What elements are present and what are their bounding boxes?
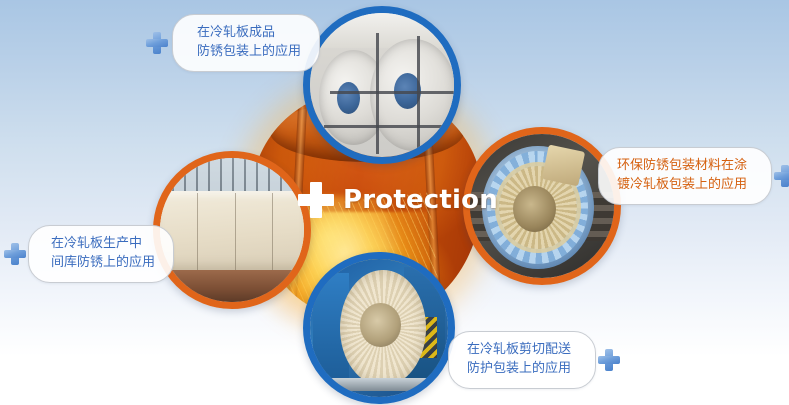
coil-packing-machine-photo [310,259,448,397]
callout-photo-top[interactable] [303,6,461,164]
callout-label-left-line1: 在冷轧板生产中 [51,235,155,254]
tarp-seam [197,193,198,271]
strapping-band [330,91,454,94]
callout-label-top[interactable]: 在冷轧板成品 防锈包装上的应用 [146,14,320,72]
plus-cross-icon [146,32,168,54]
callout-label-left-line2: 间库防锈上的应用 [51,254,155,273]
callout-label-right-line2: 镀冷轧板包装上的应用 [617,176,747,195]
callout-label-bottom-line1: 在冷轧板剪切配送 [467,341,571,360]
plus-cross-icon [4,243,26,265]
tarpaulin-cover [154,191,310,272]
callout-label-top-line1: 在冷轧板成品 [197,24,301,43]
plus-cross-icon [298,182,334,218]
callout-label-top-line2: 防锈包装上的应用 [197,43,301,62]
coil-eye [360,303,401,347]
plus-cross-icon [598,349,620,371]
factory-floor [160,270,304,302]
center-lockup: Protection [298,182,498,218]
warehouse-wall [310,13,454,48]
callout-label-right-line1: 环保防锈包装材料在涂 [617,157,747,176]
callout-label-bottom-pill: 在冷轧板剪切配送 防护包装上的应用 [448,331,596,389]
tarp-seam [272,193,273,271]
strapping-band [324,125,451,128]
callout-label-bottom[interactable]: 在冷轧板剪切配送 防护包装上的应用 [448,331,620,389]
callout-label-left[interactable]: 在冷轧板生产中 间库防锈上的应用 [4,225,174,283]
page-title: Protection [343,187,498,213]
callout-photo-left[interactable] [153,151,311,309]
callout-photo-bottom[interactable] [303,252,455,404]
steel-coils-warehouse-photo [310,13,454,157]
callout-label-left-pill: 在冷轧板生产中 间库防锈上的应用 [28,225,174,283]
tarp-seam [235,193,236,271]
callout-label-bottom-line2: 防护包装上的应用 [467,360,571,379]
tarpaulin-covered-stock-photo [160,158,304,302]
conveyor-roller [327,378,432,392]
callout-label-right[interactable]: 环保防锈包装材料在涂 镀冷轧板包装上的应用 [598,147,789,205]
callout-label-top-pill: 在冷轧板成品 防锈包装上的应用 [172,14,320,72]
callout-label-right-pill: 环保防锈包装材料在涂 镀冷轧板包装上的应用 [598,147,772,205]
warehouse-roof [160,158,304,195]
plus-cross-icon [774,165,789,187]
protection-infographic: Protection [0,0,789,405]
coil-eye [513,186,556,232]
